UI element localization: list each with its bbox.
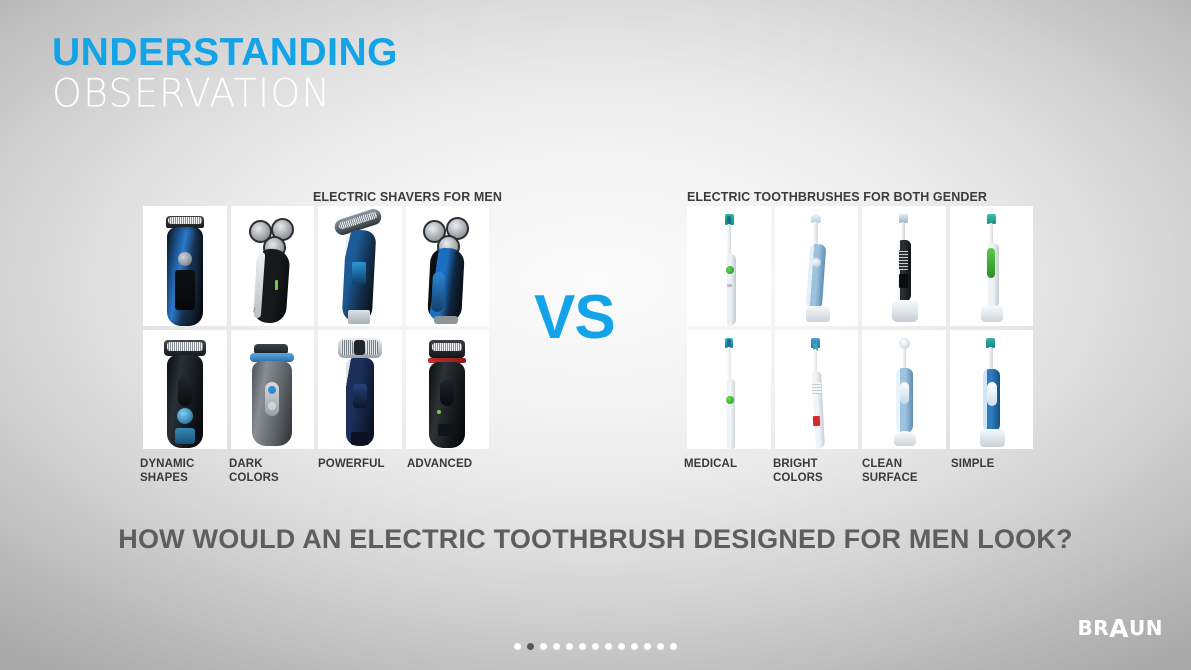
product-tile-toothbrush-clear-green[interactable] — [687, 330, 771, 450]
product-tile-shaver-gray-foil[interactable] — [231, 330, 315, 450]
pagination-dot-7[interactable] — [592, 643, 599, 650]
pagination-dot-6[interactable] — [579, 643, 586, 650]
product-tile-toothbrush-pale-blue-round[interactable] — [862, 330, 946, 450]
left-panel-header: ELECTRIC SHAVERS FOR MEN — [313, 190, 502, 204]
pagination-dot-1[interactable] — [514, 643, 521, 650]
pagination-dot-3[interactable] — [540, 643, 547, 650]
pagination-dot-5[interactable] — [566, 643, 573, 650]
pagination-dot-13[interactable] — [670, 643, 677, 650]
shaver-grid — [143, 206, 489, 449]
pagination-dot-9[interactable] — [618, 643, 625, 650]
product-tile-toothbrush-blue-dock[interactable] — [950, 330, 1034, 450]
product-tile-toothbrush-white-green-stripe[interactable] — [950, 206, 1034, 326]
pagination-dot-11[interactable] — [644, 643, 651, 650]
caption-bright-colors: BRIGHT COLORS — [773, 457, 858, 485]
product-tile-shaver-blue-rotary[interactable] — [406, 206, 490, 326]
product-tile-shaver-black-foil[interactable] — [143, 330, 227, 450]
title-subtitle: OBSERVATION — [52, 74, 398, 113]
product-tile-shaver-black-red-foil[interactable] — [406, 330, 490, 450]
caption-clean-surface: CLEAN SURFACE — [862, 457, 947, 485]
title-main: UNDERSTANDING — [52, 33, 398, 72]
slide-question: HOW WOULD AN ELECTRIC TOOTHBRUSH DESIGNE… — [0, 524, 1191, 555]
pagination-dots[interactable] — [0, 643, 1191, 650]
versus-label: VS — [534, 287, 615, 349]
caption-simple: SIMPLE — [951, 457, 1036, 485]
right-panel-header: ELECTRIC TOOTHBRUSHES FOR BOTH GENDER — [687, 190, 987, 204]
pagination-dot-2[interactable] — [527, 643, 534, 650]
caption-powerful: POWERFUL — [318, 457, 403, 485]
pagination-dot-12[interactable] — [657, 643, 664, 650]
pagination-dot-8[interactable] — [605, 643, 612, 650]
product-tile-shaver-blue-foil[interactable] — [143, 206, 227, 326]
product-tile-toothbrush-black-dock[interactable] — [862, 206, 946, 326]
slide-title: UNDERSTANDING OBSERVATION — [52, 33, 398, 112]
toothbrush-grid — [687, 206, 1033, 449]
pagination-dot-10[interactable] — [631, 643, 638, 650]
braun-logo: BRAUN — [1078, 614, 1164, 643]
caption-dynamic-shapes: DYNAMIC SHAPES — [140, 457, 225, 485]
product-tile-toothbrush-light-blue-dock[interactable] — [775, 206, 859, 326]
caption-advanced: ADVANCED — [407, 457, 492, 485]
product-tile-shaver-black-rotary[interactable] — [231, 206, 315, 326]
product-tile-shaver-navy-triple-foil[interactable] — [318, 330, 402, 450]
toothbrush-captions: MEDICAL BRIGHT COLORS CLEAN SURFACE SIMP… — [684, 457, 1036, 485]
product-tile-toothbrush-white-slim[interactable] — [775, 330, 859, 450]
product-tile-toothbrush-white-green[interactable] — [687, 206, 771, 326]
product-tile-shaver-blue-wet-dry[interactable] — [318, 206, 402, 326]
caption-medical: MEDICAL — [684, 457, 769, 485]
caption-dark-colors: DARK COLORS — [229, 457, 314, 485]
shaver-captions: DYNAMIC SHAPES DARK COLORS POWERFUL ADVA… — [140, 457, 492, 485]
slide-canvas: UNDERSTANDING OBSERVATION ELECTRIC SHAVE… — [0, 0, 1191, 670]
pagination-dot-4[interactable] — [553, 643, 560, 650]
